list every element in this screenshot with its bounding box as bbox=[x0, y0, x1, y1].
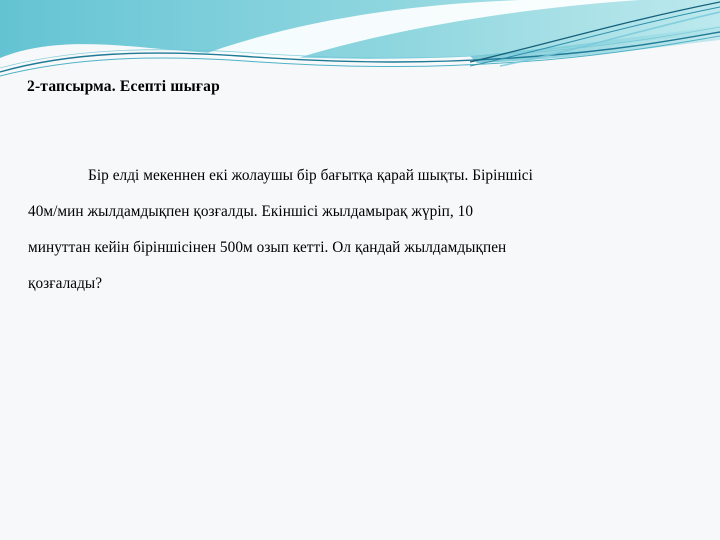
wave-white-base bbox=[0, 40, 720, 80]
wave-accent-line-topright-2 bbox=[470, 7, 720, 66]
wave-accent-line-topright-3 bbox=[500, 12, 720, 66]
wave-fill-main bbox=[0, 0, 720, 59]
wave-accent-line-1 bbox=[0, 32, 720, 72]
slide-body-text: Бір елді мекеннен екі жолаушы бір бағытқ… bbox=[28, 158, 700, 302]
teal-wave-banner bbox=[0, 0, 720, 80]
wave-accent-line-topright-1 bbox=[470, 2, 720, 62]
wave-fill-secondary bbox=[470, 26, 720, 66]
page-title: 2-тапсырма. Есепті шығар bbox=[27, 78, 220, 96]
wave-white-swoosh-upper bbox=[140, 0, 640, 80]
body-line: қозғалады? bbox=[28, 266, 700, 302]
slide-canvas: 2-тапсырма. Есепті шығар Бір елді мекенн… bbox=[0, 0, 720, 540]
wave-accent-line-2 bbox=[0, 36, 720, 76]
body-line: 40м/мин жылдамдықпен қозғалды. Екіншісі … bbox=[28, 194, 700, 230]
body-line: минуттан кейін біріншісінен 500м озып ке… bbox=[28, 230, 700, 266]
wave-accent-line-3 bbox=[0, 27, 720, 68]
body-line: Бір елді мекеннен екі жолаушы бір бағытқ… bbox=[28, 158, 700, 194]
